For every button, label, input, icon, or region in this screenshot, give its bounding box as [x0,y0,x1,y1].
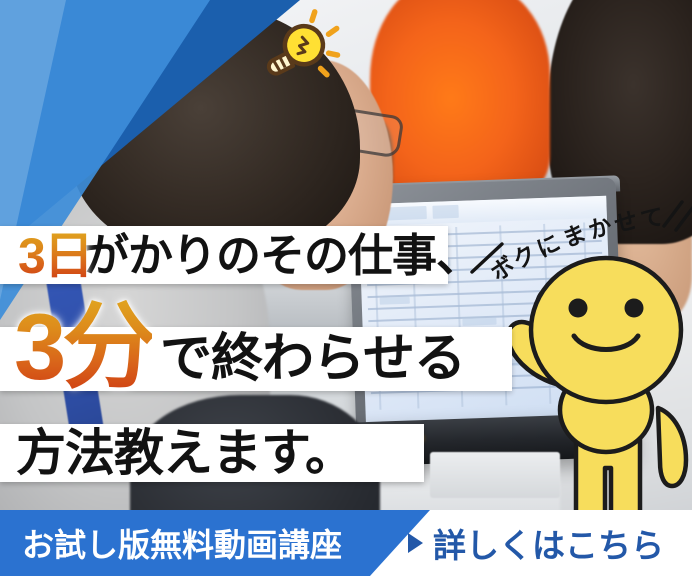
headline-line-3-text: 方法教えます。 [0,428,354,478]
lightbulb-icon [258,8,348,88]
mascot-eye-right [625,299,644,318]
headline-line-2-number: 3分 [14,300,152,394]
person-orange-top [370,0,550,195]
headline-line-1-number: 3日 [18,231,92,281]
cta-bar: お試し版無料動画講座 詳しくはこちら [0,510,692,576]
headline-band-3: 方法教えます。 [0,424,424,482]
ad-banner: ボ ク に ま か せ て がかりのその仕事、 3日 で終わらせる 3分 方法教… [0,0,692,576]
mascot-eye-left [569,299,588,318]
cta-details-label: 詳しくはこちら [433,519,664,567]
cta-details-link[interactable]: 詳しくはこちら [408,510,664,576]
yellow-thumbs-up-mascot [498,238,692,528]
cta-primary-label: お試し版無料動画講座 [0,520,342,566]
play-triangle-icon [408,533,423,553]
cta-primary-button[interactable]: お試し版無料動画講座 [0,510,430,576]
